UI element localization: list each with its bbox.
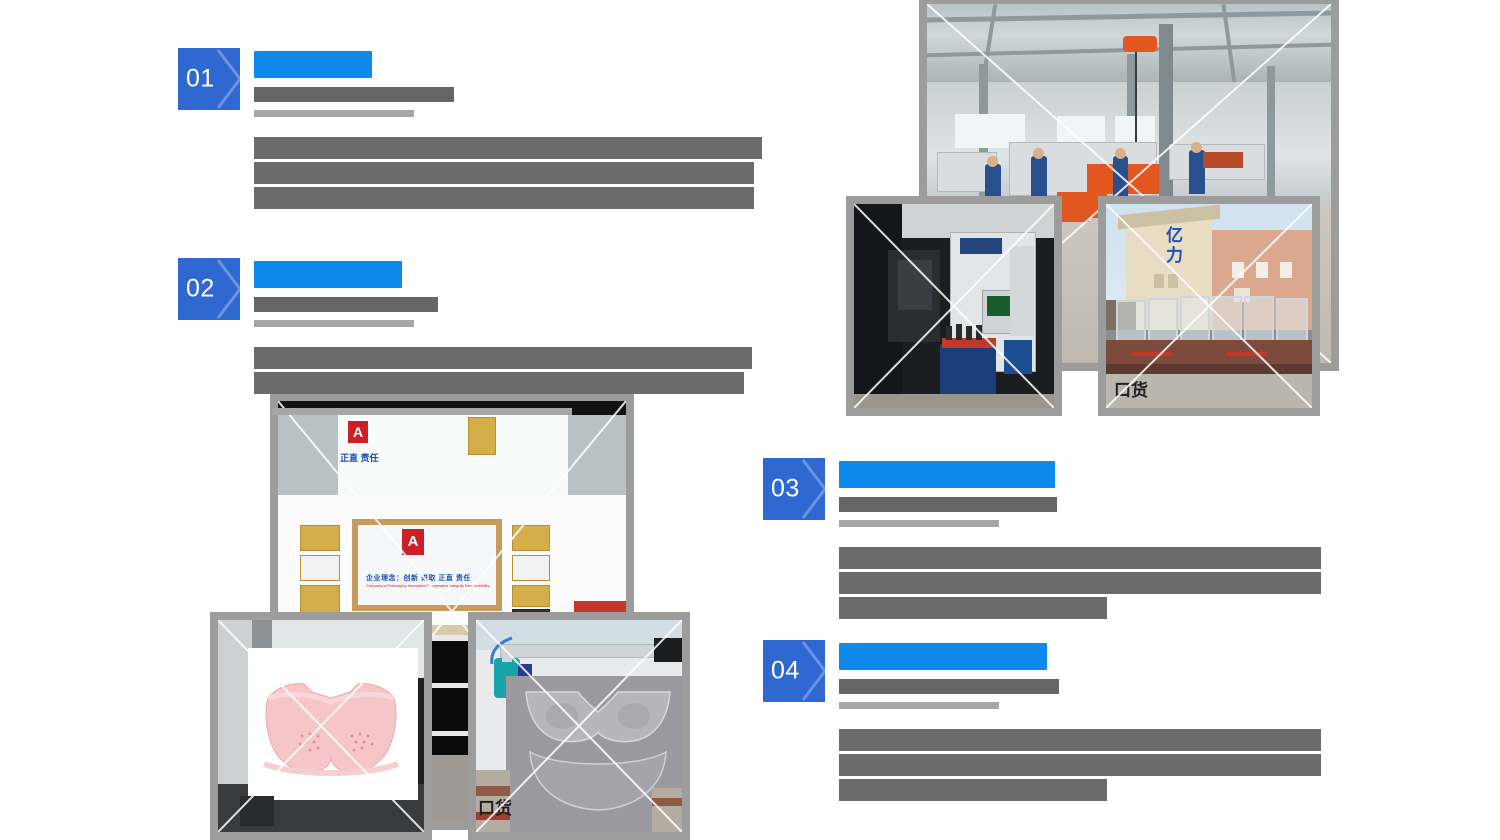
feature-title-redacted-04 <box>839 643 1047 670</box>
feature-body-line <box>839 779 1107 801</box>
feature-text-03 <box>839 458 1321 619</box>
photo-shipping-loading-content: 亿力 口货 <box>1106 204 1312 408</box>
feature-text-01 <box>254 48 762 209</box>
feature-body-line <box>254 347 752 369</box>
feature-body-line <box>839 547 1321 569</box>
feature-body-line <box>839 572 1321 594</box>
feature-number-03: 03 <box>771 477 800 502</box>
feature-subtitle-redacted-04 <box>839 679 1059 694</box>
feature-divider-01 <box>254 110 414 117</box>
feature-text-04 <box>839 640 1321 801</box>
photo-pink-bra-product <box>210 612 432 840</box>
feature-block-04: 04 <box>763 640 1321 801</box>
feature-body-redacted-03 <box>839 547 1321 619</box>
photo-cnc-machine-content <box>854 204 1054 408</box>
feature-subtitle-redacted-02 <box>254 297 438 312</box>
feature-number-badge-03: 03 <box>763 458 825 520</box>
photo-fabric-cutting-content: 口货 <box>476 620 682 832</box>
feature-extra-divider-02 <box>272 408 572 415</box>
feature-block-02: 02 <box>178 258 752 415</box>
feature-body-redacted-01 <box>254 137 762 209</box>
photo-shipping-loading: 亿力 口货 <box>1098 196 1320 416</box>
feature-body-redacted-04 <box>839 729 1321 801</box>
feature-body-line <box>839 754 1321 776</box>
feature-text-02 <box>254 258 752 415</box>
feature-subtitle-redacted-01 <box>254 87 454 102</box>
feature-body-line <box>839 729 1321 751</box>
feature-number-02: 02 <box>186 277 215 302</box>
photo-cnc-machine <box>846 196 1062 416</box>
feature-body-line <box>839 597 1107 619</box>
feature-divider-04 <box>839 702 999 709</box>
feature-number-01: 01 <box>186 67 215 92</box>
feature-body-line <box>254 137 762 159</box>
feature-number-badge-01: 01 <box>178 48 240 110</box>
feature-divider-03 <box>839 520 999 527</box>
feature-block-01: 01 <box>178 48 762 209</box>
feature-subtitle-redacted-03 <box>839 497 1057 512</box>
air-hose <box>482 636 516 670</box>
feature-title-redacted-03 <box>839 461 1055 488</box>
feature-title-redacted-02 <box>254 261 402 288</box>
feature-number-badge-04: 04 <box>763 640 825 702</box>
page-root: 亿力 口货 <box>0 0 1500 840</box>
photo-fabric-cutting: 口货 <box>468 612 690 840</box>
feature-number-badge-02: 02 <box>178 258 240 320</box>
photo-pink-bra-product-content <box>218 620 424 832</box>
feature-body-line <box>254 372 744 394</box>
feature-title-redacted-01 <box>254 51 372 78</box>
feature-body-line <box>254 162 754 184</box>
bra-product-shape <box>256 672 406 780</box>
feature-body-line <box>254 187 754 209</box>
feature-number-04: 04 <box>771 659 800 684</box>
feature-block-03: 03 <box>763 458 1321 619</box>
feature-divider-02 <box>254 320 414 327</box>
feature-body-redacted-02 <box>254 347 752 394</box>
